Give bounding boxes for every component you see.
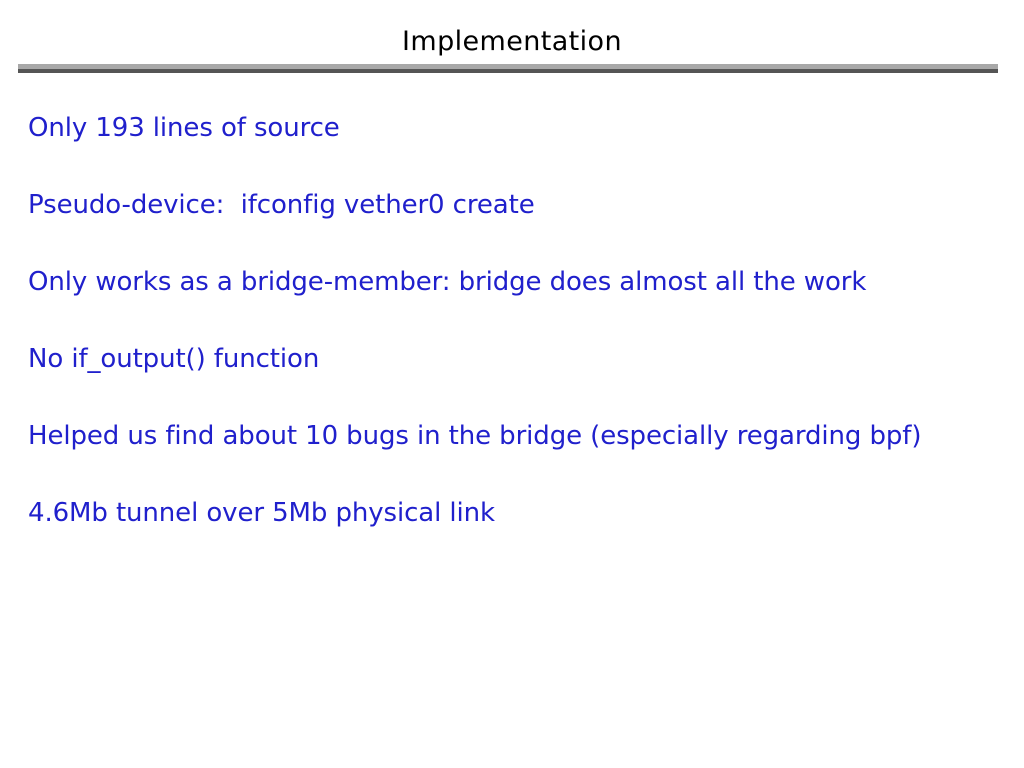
list-item: No if_output() function <box>28 343 998 420</box>
list-item: Only 193 lines of source <box>28 112 998 189</box>
list-item: Helped us find about 10 bugs in the brid… <box>28 420 998 497</box>
page-title: Implementation <box>0 25 1024 59</box>
list-item: 4.6Mb tunnel over 5Mb physical link <box>28 497 998 574</box>
slide-canvas: Implementation Only 193 lines of source … <box>0 0 1024 768</box>
divider-dark-band <box>18 69 998 73</box>
list-item: Pseudo-device: ifconfig vether0 create <box>28 189 998 266</box>
title-divider <box>18 64 998 73</box>
list-item: Only works as a bridge-member: bridge do… <box>28 266 998 343</box>
bullet-list: Only 193 lines of source Pseudo-device: … <box>28 112 998 574</box>
